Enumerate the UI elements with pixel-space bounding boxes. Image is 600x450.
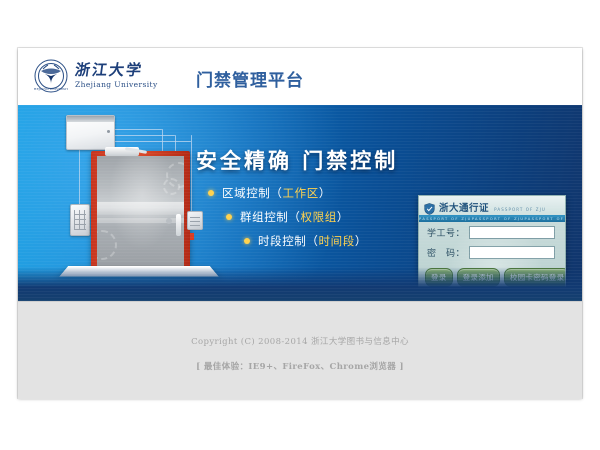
- zju-seal-icon: ZHEJIANG UNIVERSITY: [34, 59, 68, 93]
- stripe-text: PASSPORT OF ZJU: [472, 217, 525, 221]
- bullet-dot-icon: [244, 238, 250, 244]
- banner-bottom-shade: [18, 267, 582, 301]
- login-panel-subtitle: PASSPORT OF ZJU: [494, 207, 546, 212]
- feature-list: 区域控制（工作区） 群组控制（权限组） 时段控制（时间段）: [208, 185, 367, 257]
- bullet-dot-icon: [226, 214, 232, 220]
- controller-indicator-icon: [107, 130, 110, 133]
- controller-box-icon: [66, 115, 115, 150]
- login-panel-title-block: 浙大通行证 PASSPORT OF ZJU: [439, 196, 546, 215]
- copyright-text: Copyright (C) 2008-2014 浙江大学图书与信息中心: [18, 335, 582, 347]
- keypad-icon: [70, 204, 90, 236]
- feature-2-label: 群组控制（权限组）: [240, 209, 349, 225]
- university-name-en: Zhejiang University: [75, 80, 158, 90]
- password-input[interactable]: [469, 246, 555, 259]
- cable-icon: [113, 129, 162, 130]
- feature-3-label: 时段控制（时间段）: [258, 233, 367, 249]
- list-item: 区域控制（工作区）: [208, 185, 367, 201]
- brand-wordmark: 浙江大学 Zhejiang University: [75, 63, 158, 90]
- shield-icon: [424, 200, 435, 212]
- university-name-cn: 浙江大学: [74, 63, 159, 78]
- password-label: 密 码：: [425, 246, 465, 259]
- card-reader-icon: [187, 211, 203, 230]
- cable-icon: [162, 129, 163, 151]
- list-item: 群组控制（权限组）: [226, 209, 367, 225]
- form-row: 密 码：: [425, 246, 565, 259]
- svg-text:ZHEJIANG UNIVERSITY: ZHEJIANG UNIVERSITY: [34, 87, 68, 91]
- cable-icon: [79, 148, 80, 205]
- page-container: ZHEJIANG UNIVERSITY 浙江大学 Zhejiang Univer…: [18, 48, 582, 398]
- login-panel-header: 浙大通行证 PASSPORT OF ZJU: [419, 196, 565, 215]
- banner-slogan: 安全精确 门禁控制: [196, 145, 398, 175]
- brand-logo[interactable]: ZHEJIANG UNIVERSITY 浙江大学 Zhejiang Univer…: [34, 59, 158, 93]
- login-form: 学工号： 密 码：: [419, 226, 565, 266]
- bullet-dot-icon: [208, 190, 214, 196]
- door-knob-icon: [166, 218, 172, 224]
- door-closer-icon: [105, 147, 139, 156]
- student-staff-id-label: 学工号：: [425, 226, 465, 239]
- stripe-text: PASSPORT OF ZJU: [524, 217, 565, 221]
- page-title: 门禁管理平台: [196, 66, 304, 91]
- list-item: 时段控制（时间段）: [244, 233, 367, 249]
- cable-icon: [191, 135, 192, 211]
- door-highlight: [97, 202, 184, 215]
- feature-1-label: 区域控制（工作区）: [222, 185, 331, 201]
- site-header: ZHEJIANG UNIVERSITY 浙江大学 Zhejiang Univer…: [18, 48, 582, 105]
- gear-icon: [97, 230, 117, 260]
- cable-icon: [113, 135, 175, 136]
- student-staff-id-input[interactable]: [469, 226, 555, 239]
- login-panel-title: 浙大通行证: [439, 203, 489, 214]
- gear-icon: [163, 178, 180, 195]
- door-status-led-icon: [190, 233, 194, 240]
- door-handle-icon: [176, 214, 181, 236]
- site-footer: Copyright (C) 2008-2014 浙江大学图书与信息中心 [ 最佳…: [18, 301, 582, 399]
- hero-banner: 安全精确 门禁控制 区域控制（工作区） 群组控制（权限组） 时段控制（时间段）: [18, 105, 582, 301]
- browser-support-note: [ 最佳体验：IE9+、FireFox、Chrome浏览器 ]: [18, 360, 582, 372]
- passport-stripe: PASSPORT OF ZJU PASSPORT OF ZJU PASSPORT…: [419, 215, 565, 222]
- stripe-text: PASSPORT OF ZJU: [419, 217, 472, 221]
- form-row: 学工号：: [425, 226, 565, 239]
- cable-icon: [113, 141, 191, 142]
- door-frame: [91, 151, 190, 269]
- door: [97, 156, 184, 269]
